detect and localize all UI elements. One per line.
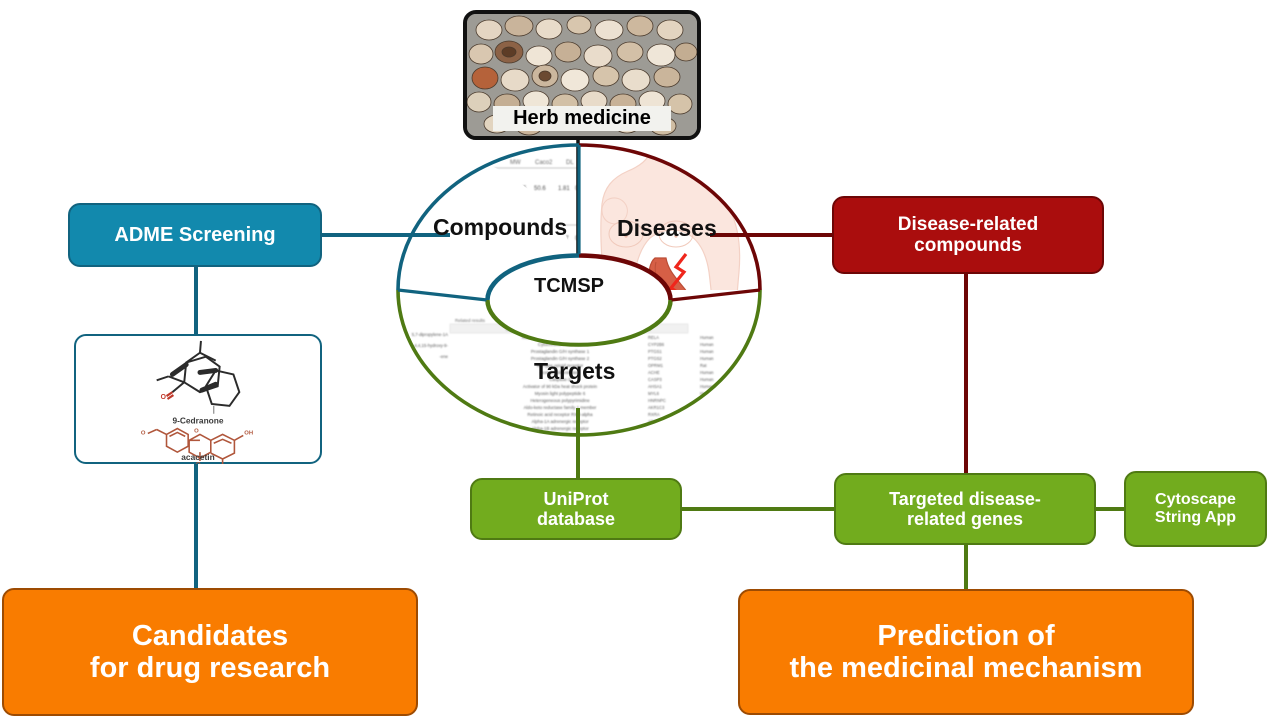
svg-text:OH: OH [244,430,253,436]
svg-text:ACHE: ACHE [648,370,660,375]
svg-text:CASP3: CASP3 [648,377,662,382]
cytoscape-string-app-box[interactable]: Cytoscape String App [1124,471,1267,547]
svg-text:MW: MW [510,160,521,166]
svg-text:Heterogeneous polypyrimidine: Heterogeneous polypyrimidine [530,398,590,403]
svg-text:(+)-Matairesinol: (+)-Matairesinol [404,284,442,290]
disease-related-compounds-label: Disease-related compounds [898,214,1038,257]
targeted-genes-label: Targeted disease- related genes [889,489,1041,529]
svg-text:PTGS1: PTGS1 [648,349,662,354]
svg-text:Caco2: Caco2 [535,160,553,166]
svg-text:Alpha-1A adrenergic receptor: Alpha-1A adrenergic receptor [531,419,589,424]
svg-text:Aldo-keto reductase family 1 m: Aldo-keto reductase family 1 member [524,405,597,410]
hub-label-compounds: Compounds [433,214,567,241]
herb-medicine-card: Herb medicine [463,10,701,140]
svg-text:MYL6: MYL6 [648,391,660,396]
svg-text:4,4,15-hydroxy-9-: 4,4,15-hydroxy-9- [414,343,448,348]
svg-text:Human: Human [700,356,714,361]
hub-center-label: TCMSP [534,275,604,298]
svg-text:ADRA1B: ADRA1B [648,426,665,431]
svg-text:CYP2B6: CYP2B6 [648,342,665,347]
herb-medicine-label: Herb medicine [493,106,671,131]
svg-text:Prostaglandin G/H synthase 1: Prostaglandin G/H synthase 1 [531,349,590,354]
svg-text:Human: Human [700,377,714,382]
svg-text:O: O [194,428,199,434]
svg-text:O: O [196,462,201,464]
svg-text:AHSA1: AHSA1 [648,384,662,389]
svg-text:5,7-dipropylene-1A: 5,7-dipropylene-1A [412,332,448,337]
svg-text:Human: Human [700,342,714,347]
uniprot-database-label: UniProt database [537,489,615,529]
svg-text:RELA: RELA [648,335,659,340]
svg-text:Human: Human [700,370,714,375]
svg-text:1.81: 1.81 [558,186,570,192]
candidates-for-drug-research-box[interactable]: Candidates for drug research [2,588,418,716]
svg-text:50.6: 50.6 [534,186,546,192]
svg-text:DL: DL [566,160,574,166]
adme-screening-label: ADME Screening [114,224,275,246]
prediction-label: Prediction of the medicinal mechanism [790,620,1143,685]
svg-text:Retinoic acid receptor RXR-alp: Retinoic acid receptor RXR-alpha [527,412,593,417]
svg-text:O: O [161,394,167,401]
adme-screening-box[interactable]: ADME Screening [68,203,322,267]
disease-related-compounds-box[interactable]: Disease-related compounds [832,196,1104,274]
candidates-label: Candidates for drug research [90,620,330,685]
svg-text:OPRM1: OPRM1 [648,363,664,368]
targeted-disease-related-genes-box[interactable]: Targeted disease- related genes [834,473,1096,545]
svg-text:O: O [141,430,146,436]
chemical-structures-box[interactable]: O 9-Cedranone O O OH OH O acacetin [74,334,322,464]
compound-name-2: acacetin [181,452,214,462]
svg-text:Related results: Related results [455,318,486,323]
svg-text:Human: Human [700,398,714,403]
compound-name-1: 9-Cedranone [172,416,223,426]
hub-label-targets: Targets [534,358,615,385]
svg-text:Rat: Rat [700,363,707,368]
svg-text:Human: Human [700,349,714,354]
svg-text:Human: Human [700,335,714,340]
svg-text:204.35: 204.35 [508,186,527,192]
uniprot-database-box[interactable]: UniProt database [470,478,682,540]
cytoscape-label: Cytoscape String App [1155,491,1236,527]
svg-text:PTGS2: PTGS2 [648,356,662,361]
svg-text:HNRNPC: HNRNPC [648,398,666,403]
svg-text:AKR1C3: AKR1C3 [648,405,665,410]
prediction-of-medicinal-mechanism-box[interactable]: Prediction of the medicinal mechanism [738,589,1194,715]
svg-text:-ene: -ene [439,354,448,359]
svg-text:RXRA: RXRA [648,412,660,417]
hub-label-diseases: Diseases [617,215,717,242]
svg-text:Myosin light polypeptide 6: Myosin light polypeptide 6 [535,391,586,396]
chemical-structure-diagram: O 9-Cedranone O O OH OH O acacetin [76,334,320,464]
